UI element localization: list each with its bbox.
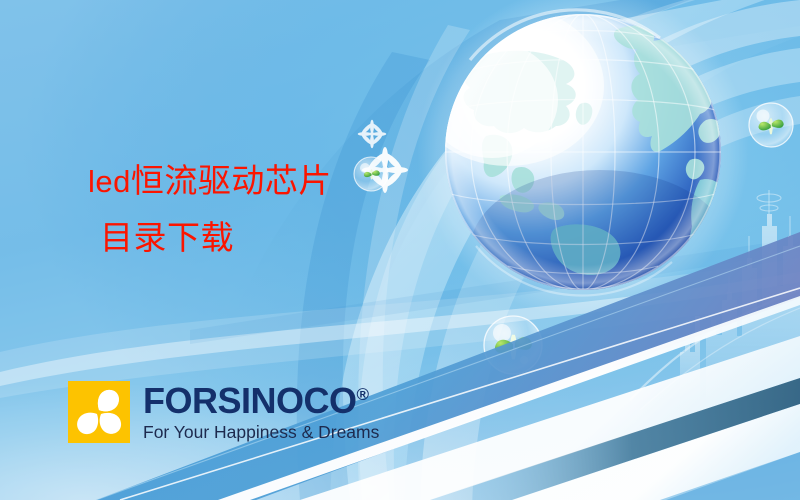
logo-company-name: FORSINOCO® [143, 383, 379, 419]
logo-pinwheel-icon [68, 381, 130, 443]
logo-pinwheel-svg [68, 381, 130, 443]
bubble-icon-sprout-right [749, 103, 793, 147]
promo-banner: led恒流驱动芯片 目录下载 FORSINOCO® For Your Happi… [0, 0, 800, 500]
bubble-icon-sprout-small [354, 157, 388, 191]
logo-wordmark: FORSINOCO® For Your Happiness & Dreams [143, 383, 379, 442]
registered-trademark-icon: ® [357, 385, 370, 404]
company-logo[interactable]: FORSINOCO® For Your Happiness & Dreams [68, 381, 379, 443]
logo-tagline: For Your Happiness & Dreams [143, 424, 379, 442]
logo-company-name-text: FORSINOCO [143, 380, 357, 421]
